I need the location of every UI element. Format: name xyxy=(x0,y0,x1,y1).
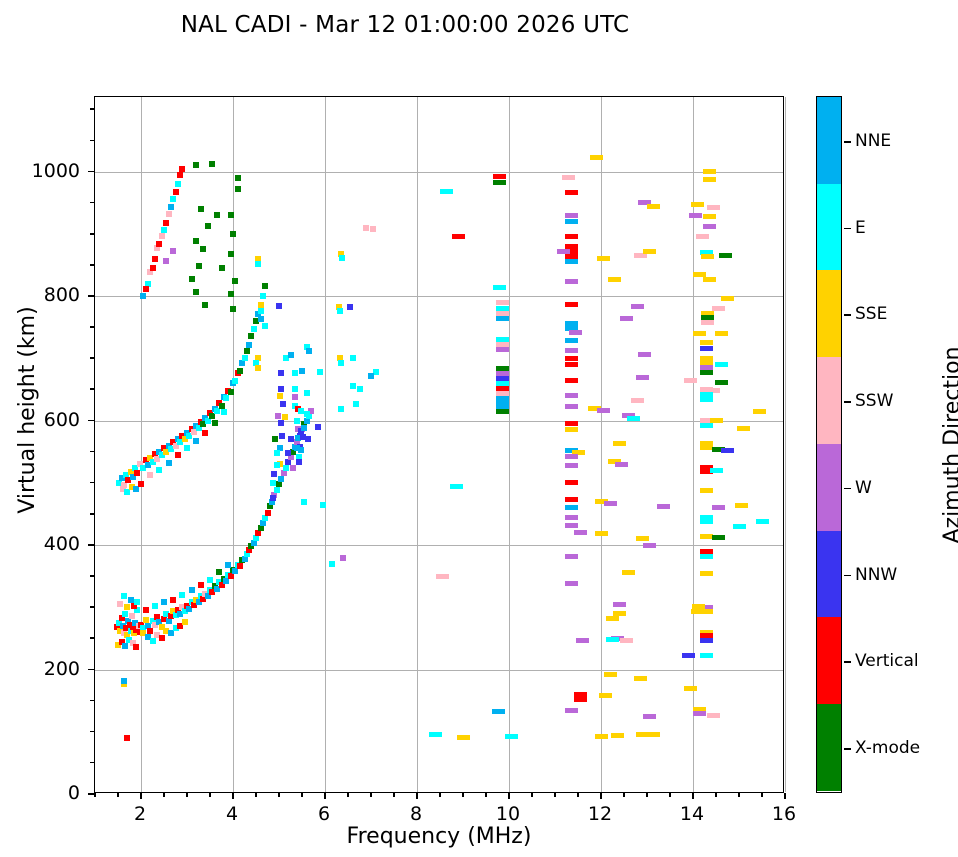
scatter-point xyxy=(493,174,506,179)
scatter-point xyxy=(363,225,369,231)
x-tick xyxy=(600,793,602,799)
scatter-point xyxy=(627,416,640,421)
colorbar-tick xyxy=(844,228,851,230)
colorbar-segment-nnw xyxy=(817,531,841,618)
scatter-point xyxy=(143,607,149,613)
scatter-point xyxy=(189,587,195,593)
scatter-point xyxy=(235,186,241,192)
scatter-point xyxy=(156,467,162,473)
scatter-point xyxy=(622,570,635,575)
scatter-point xyxy=(163,258,169,264)
scatter-point xyxy=(138,481,144,487)
scatter-point xyxy=(270,480,276,486)
scatter-point xyxy=(574,697,587,702)
scatter-point xyxy=(712,505,725,510)
scatter-point xyxy=(282,414,288,420)
x-tick xyxy=(485,793,487,797)
scatter-point xyxy=(124,604,130,610)
scatter-point xyxy=(170,196,176,202)
scatter-point xyxy=(338,406,344,412)
scatter-point xyxy=(715,331,728,336)
colorbar-tick xyxy=(844,488,851,490)
colorbar-label-nne: NNE xyxy=(855,131,891,151)
y-tick xyxy=(88,544,94,546)
scatter-point xyxy=(193,438,199,444)
scatter-point xyxy=(691,609,704,614)
scatter-point xyxy=(274,450,280,456)
scatter-point xyxy=(565,234,578,239)
y-tick xyxy=(90,451,94,453)
scatter-point xyxy=(700,397,713,402)
scatter-point xyxy=(228,291,234,297)
scatter-point xyxy=(565,523,578,528)
scatter-point xyxy=(122,611,128,617)
scatter-point xyxy=(258,302,264,308)
scatter-point xyxy=(121,678,127,684)
scatter-point xyxy=(368,373,374,379)
scatter-point xyxy=(288,352,294,358)
scatter-point xyxy=(613,602,626,607)
y-tick xyxy=(90,606,94,608)
scatter-point xyxy=(696,234,709,239)
scatter-point xyxy=(260,293,266,299)
scatter-point xyxy=(595,734,608,739)
scatter-point xyxy=(634,676,647,681)
scatter-point xyxy=(143,286,149,292)
scatter-point xyxy=(159,635,165,641)
scatter-point xyxy=(496,300,509,305)
scatter-point xyxy=(613,611,626,616)
x-tick xyxy=(370,793,372,797)
scatter-point xyxy=(370,226,376,232)
scatter-point xyxy=(735,503,748,508)
x-tick-label: 10 xyxy=(496,803,520,825)
scatter-point xyxy=(294,445,300,451)
scatter-point xyxy=(150,265,156,271)
scatter-point xyxy=(429,732,442,737)
scatter-point xyxy=(274,487,280,493)
y-tick-label: 800 xyxy=(0,284,80,306)
scatter-point xyxy=(493,285,506,290)
y-tick xyxy=(88,171,94,173)
scatter-point xyxy=(703,169,716,174)
scatter-point xyxy=(693,331,706,336)
y-tick-label: 200 xyxy=(0,658,80,680)
scatter-point xyxy=(703,224,716,229)
scatter-point xyxy=(278,476,284,482)
scatter-point xyxy=(262,323,268,329)
gridline-vertical xyxy=(785,97,786,792)
x-tick xyxy=(439,793,441,797)
colorbar-label-w: W xyxy=(855,478,872,498)
x-tick xyxy=(577,793,579,797)
y-tick xyxy=(90,575,94,577)
scatter-point xyxy=(276,303,282,309)
scatter-point xyxy=(305,436,311,442)
scatter-point xyxy=(278,420,284,426)
scatter-point xyxy=(682,653,695,658)
scatter-point xyxy=(198,206,204,212)
scatter-point xyxy=(251,326,257,332)
x-tick xyxy=(301,793,303,797)
scatter-point xyxy=(147,472,153,478)
scatter-point xyxy=(179,166,185,172)
scatter-point xyxy=(317,369,323,375)
scatter-point xyxy=(121,593,127,599)
scatter-point xyxy=(703,214,716,219)
scatter-point xyxy=(255,365,261,371)
scatter-point xyxy=(604,501,617,506)
scatter-point xyxy=(721,296,734,301)
x-tick xyxy=(462,793,464,797)
scatter-point xyxy=(304,390,310,396)
scatter-point xyxy=(133,644,139,650)
scatter-point xyxy=(597,408,610,413)
colorbar-tick xyxy=(844,141,851,143)
scatter-point xyxy=(255,261,261,267)
scatter-point xyxy=(565,708,578,713)
scatter-point xyxy=(565,497,578,502)
scatter-point xyxy=(271,471,277,477)
scatter-point xyxy=(301,425,307,431)
scatter-point xyxy=(604,672,617,677)
scatter-point xyxy=(299,368,305,374)
scatter-point xyxy=(292,394,298,400)
scatter-point xyxy=(117,601,123,607)
x-tick xyxy=(186,793,188,797)
scatter-point xyxy=(184,445,190,451)
scatter-point xyxy=(643,543,656,548)
scatter-point xyxy=(347,304,353,310)
colorbar-tick xyxy=(844,314,851,316)
colorbar-segment-ssw xyxy=(817,357,841,444)
colorbar-tick xyxy=(844,575,851,577)
scatter-point xyxy=(202,430,208,436)
scatter-point xyxy=(565,393,578,398)
scatter-point xyxy=(700,340,713,345)
scatter-point xyxy=(294,418,300,424)
scatter-point xyxy=(193,162,199,168)
scatter-point xyxy=(595,531,608,536)
scatter-point xyxy=(161,599,167,605)
scatter-point xyxy=(175,452,181,458)
scatter-point xyxy=(258,316,264,322)
scatter-point xyxy=(122,643,128,649)
scatter-point xyxy=(436,574,449,579)
scatter-point xyxy=(129,613,135,619)
colorbar-tick xyxy=(844,401,851,403)
scatter-point xyxy=(216,569,222,575)
scatter-point xyxy=(565,356,578,361)
y-tick xyxy=(90,388,94,390)
scatter-point xyxy=(565,362,578,367)
scatter-point xyxy=(753,409,766,414)
scatter-point xyxy=(274,462,280,468)
scatter-point xyxy=(221,409,227,415)
scatter-point xyxy=(338,360,344,366)
scatter-point xyxy=(737,426,750,431)
y-tick xyxy=(90,233,94,235)
scatter-point xyxy=(492,709,505,714)
scatter-point xyxy=(450,484,463,489)
scatter-point xyxy=(161,227,167,233)
scatter-point xyxy=(565,463,578,468)
scatter-point xyxy=(719,253,732,258)
scatter-point xyxy=(124,735,130,741)
y-tick-label: 600 xyxy=(0,409,80,431)
colorbar-label-x-mode: X-mode xyxy=(855,738,920,758)
colorbar-tick xyxy=(844,748,851,750)
y-tick xyxy=(90,637,94,639)
colorbar-label-ssw: SSW xyxy=(855,391,893,411)
scatter-point xyxy=(228,389,234,395)
scatter-point xyxy=(223,395,229,401)
scatter-point xyxy=(611,733,624,738)
scatter-point xyxy=(232,278,238,284)
scatter-point xyxy=(350,383,356,389)
y-axis-label: Virtual height (km) xyxy=(15,60,40,760)
scatter-point xyxy=(574,530,587,535)
scatter-point xyxy=(196,263,202,269)
scatter-point xyxy=(684,686,697,691)
scatter-point xyxy=(262,283,268,289)
colorbar-segment-sse xyxy=(817,270,841,357)
scatter-point xyxy=(228,212,234,218)
scatter-point xyxy=(565,404,578,409)
scatter-point xyxy=(707,713,720,718)
scatter-point xyxy=(225,562,231,568)
x-tick xyxy=(232,793,234,799)
scatter-point xyxy=(701,320,714,325)
scatter-point xyxy=(707,205,720,210)
x-tick xyxy=(692,793,694,799)
scatter-point xyxy=(565,378,578,383)
colorbar-title: Azimuth Direction xyxy=(940,95,958,795)
ionogram-figure: NAL CADI - Mar 12 01:00:00 2026 UTC 2468… xyxy=(0,0,958,857)
y-tick xyxy=(88,669,94,671)
scatter-point xyxy=(193,238,199,244)
scatter-point xyxy=(230,231,236,237)
x-tick xyxy=(761,793,763,797)
scatter-point xyxy=(636,375,649,380)
scatter-point xyxy=(212,420,218,426)
y-tick xyxy=(90,202,94,204)
scatter-point xyxy=(246,342,252,348)
scatter-point xyxy=(279,433,285,439)
colorbar-label-nnw: NNW xyxy=(855,565,897,585)
scatter-point xyxy=(597,256,610,261)
scatter-point xyxy=(301,499,307,505)
scatter-point xyxy=(205,223,211,229)
scatter-point xyxy=(230,306,236,312)
scatter-point xyxy=(232,378,238,384)
scatter-point xyxy=(689,213,702,218)
scatter-point xyxy=(700,370,713,375)
x-tick xyxy=(278,793,280,797)
scatter-point xyxy=(147,628,153,634)
y-tick xyxy=(90,482,94,484)
scatter-point xyxy=(166,211,172,217)
scatter-point xyxy=(237,563,243,569)
y-tick xyxy=(90,357,94,359)
scatter-point xyxy=(684,378,697,383)
scatter-point xyxy=(565,219,578,224)
scatter-point xyxy=(275,413,281,419)
scatter-point xyxy=(202,302,208,308)
x-axis-label: Frequency (MHz) xyxy=(94,824,784,849)
scatter-point xyxy=(166,460,172,466)
colorbar-label-vertical: Vertical xyxy=(855,651,919,671)
scatter-point xyxy=(179,592,185,598)
scatter-point xyxy=(565,259,578,264)
scatter-point xyxy=(643,249,656,254)
scatter-point xyxy=(565,279,578,284)
scatter-point xyxy=(242,355,248,361)
scatter-point xyxy=(565,302,578,307)
scatter-point xyxy=(292,386,298,392)
scatter-point xyxy=(452,234,465,239)
scatter-point xyxy=(700,488,713,493)
y-tick-label: 1000 xyxy=(0,160,80,182)
y-tick xyxy=(90,326,94,328)
scatter-point xyxy=(565,480,578,485)
scatter-point xyxy=(173,189,179,195)
scatter-point xyxy=(219,403,225,409)
scatter-point xyxy=(170,597,176,603)
scatter-point xyxy=(710,418,723,423)
scatter-point xyxy=(606,616,619,621)
scatter-point xyxy=(565,190,578,195)
scatter-point xyxy=(565,515,578,520)
scatter-point xyxy=(296,459,302,465)
scatter-point xyxy=(599,693,612,698)
scatter-point xyxy=(496,347,509,352)
scatter-point xyxy=(733,524,746,529)
scatter-point xyxy=(214,212,220,218)
x-tick-label: 12 xyxy=(588,803,612,825)
scatter-point xyxy=(606,637,619,642)
scatter-point xyxy=(339,255,345,261)
scatter-point xyxy=(569,330,582,335)
scatter-point xyxy=(657,504,670,509)
x-tick xyxy=(508,793,510,799)
x-tick xyxy=(117,793,119,797)
scatter-point xyxy=(320,502,326,508)
scatter-point xyxy=(237,368,243,374)
x-tick xyxy=(715,793,717,797)
scatter-point xyxy=(613,441,626,446)
scatter-point xyxy=(457,735,470,740)
scatter-point xyxy=(177,172,183,178)
scatter-point xyxy=(207,577,213,583)
y-tick xyxy=(90,264,94,266)
x-tick xyxy=(669,793,671,797)
x-tick xyxy=(94,793,96,797)
scatter-point xyxy=(631,398,644,403)
y-tick-label: 0 xyxy=(0,782,80,804)
x-tick-label: 14 xyxy=(680,803,704,825)
scatter-point xyxy=(703,277,716,282)
x-tick xyxy=(209,793,211,797)
scatter-point xyxy=(168,204,174,210)
scatter-point xyxy=(496,316,509,321)
scatter-point xyxy=(700,346,713,351)
scatter-point xyxy=(265,510,271,516)
scatter-point xyxy=(710,468,723,473)
scatter-point xyxy=(288,436,294,442)
scatter-point xyxy=(248,333,254,339)
scatter-point xyxy=(277,393,283,399)
scatter-point xyxy=(285,450,291,456)
scatter-point xyxy=(700,519,713,524)
x-tick xyxy=(347,793,349,797)
scatter-point xyxy=(315,424,321,430)
y-tick xyxy=(88,420,94,422)
scatter-point xyxy=(505,734,518,739)
scatter-point xyxy=(306,348,312,354)
scatter-point xyxy=(280,401,286,407)
x-tick xyxy=(646,793,648,797)
x-tick-label: 6 xyxy=(318,803,330,825)
scatter-point xyxy=(565,213,578,218)
scatter-point xyxy=(701,254,714,259)
colorbar-segment-e xyxy=(817,184,841,271)
scatter-point xyxy=(182,619,188,625)
scatter-point xyxy=(228,251,234,257)
scatter-point xyxy=(337,308,343,314)
colorbar-label-sse: SSE xyxy=(855,304,887,324)
scatter-point xyxy=(440,189,453,194)
x-tick xyxy=(623,793,625,797)
scatter-point xyxy=(272,436,278,442)
y-tick xyxy=(90,731,94,733)
scatter-point xyxy=(590,155,603,160)
x-tick xyxy=(163,793,165,797)
scatter-point xyxy=(134,599,140,605)
scatter-point xyxy=(189,276,195,282)
x-tick xyxy=(140,793,142,799)
scatter-point xyxy=(636,536,649,541)
scatter-point xyxy=(244,348,250,354)
scatter-point xyxy=(278,370,284,376)
scatter-point xyxy=(175,181,181,187)
scatter-point xyxy=(350,355,356,361)
colorbar-segment-x-mode xyxy=(817,704,841,791)
scatter-point xyxy=(209,161,215,167)
scatter-point xyxy=(700,571,713,576)
scatter-data-layer xyxy=(95,97,783,792)
scatter-point xyxy=(357,386,363,392)
scatter-point xyxy=(700,653,713,658)
scatter-point xyxy=(576,638,589,643)
scatter-point xyxy=(565,421,578,426)
page-title: NAL CADI - Mar 12 01:00:00 2026 UTC xyxy=(0,12,810,38)
scatter-point xyxy=(290,465,296,471)
scatter-point xyxy=(608,277,621,282)
x-tick-label: 2 xyxy=(134,803,146,825)
scatter-point xyxy=(756,519,769,524)
scatter-point xyxy=(193,289,199,295)
colorbar-label-e: E xyxy=(855,218,866,238)
x-tick xyxy=(554,793,556,797)
scatter-point xyxy=(152,256,158,262)
scatter-point xyxy=(565,554,578,559)
scatter-point xyxy=(200,246,206,252)
colorbar-segment-w xyxy=(817,444,841,531)
scatter-point xyxy=(170,248,176,254)
x-tick xyxy=(416,793,418,799)
scatter-point xyxy=(715,362,728,367)
